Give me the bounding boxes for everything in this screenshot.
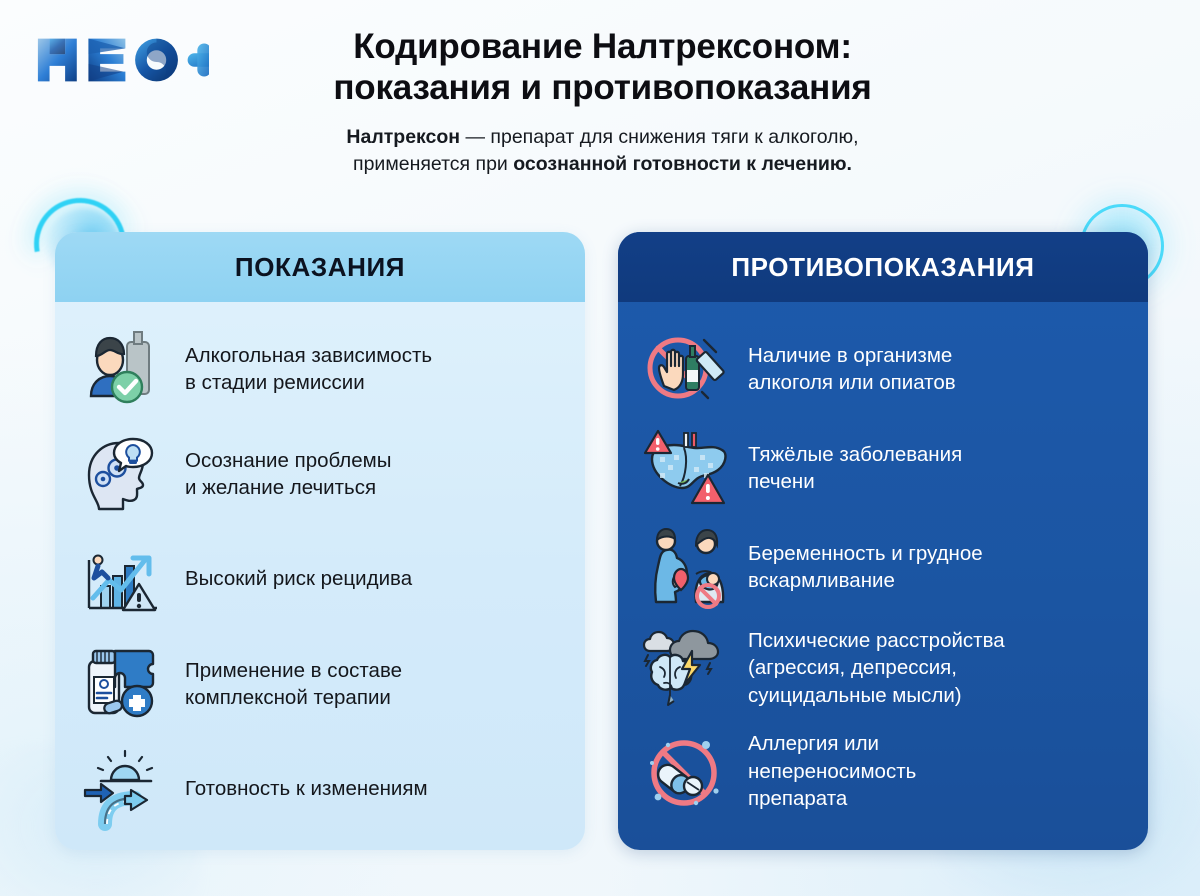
list-item-label: Психические расстройства (агрессия, депр… [748, 627, 1005, 709]
list-item: Психические расстройства (агрессия, депр… [644, 621, 1122, 715]
list-item-label: Наличие в организме алкоголя или опиатов [748, 342, 956, 397]
pregnancy-breastfeeding-ban-icon [644, 528, 730, 606]
header-text-block: Кодирование Налтрексоном: показания и пр… [230, 26, 975, 177]
list-item-label: Тяжёлые заболевания печени [748, 441, 962, 496]
contraindications-card-body: Наличие в организме алкоголя или опиатов [618, 302, 1148, 819]
pills-ban-allergy-icon [644, 733, 730, 811]
list-item: Алкогольная зависимость в стадии ремисси… [81, 324, 559, 414]
list-item-label: Беременность и грудное вскармливание [748, 540, 983, 595]
indications-card-title: ПОКАЗАНИЯ [55, 232, 585, 302]
contraindications-card-title: ПРОТИВОПОКАЗАНИЯ [618, 232, 1148, 302]
page-header: Кодирование Налтрексоном: показания и пр… [0, 0, 1200, 216]
list-item: Наличие в организме алкоголя или опиатов [644, 324, 1122, 414]
liver-warning-icon [644, 429, 730, 507]
list-item-label: Применение в составе комплексной терапии [185, 657, 402, 712]
list-item-label: Аллергия или непереносимость препарата [748, 730, 916, 812]
list-item: Применение в составе комплексной терапии [81, 639, 559, 729]
infographic-page: Кодирование Налтрексоном: показания и пр… [0, 0, 1200, 896]
stop-hand-bottle-syringe-icon [644, 330, 730, 408]
indications-card: ПОКАЗАНИЯ Алкогольная зависимость в стад… [55, 232, 585, 850]
sunrise-road-arrow-icon [81, 750, 167, 828]
page-title-line-2: показания и противопоказания [230, 67, 975, 108]
list-item: Беременность и грудное вскармливание [644, 522, 1122, 612]
neo-plus-logo [34, 30, 214, 90]
person-bottle-check-icon [81, 330, 167, 408]
indications-card-body: Алкогольная зависимость в стадии ремисси… [55, 302, 585, 834]
page-subtitle: Налтрексон — препарат для снижения тяги … [230, 124, 975, 178]
list-item: Высокий риск рецидива [81, 534, 559, 624]
subtitle-text-1: — препарат для снижения тяги к алкоголю, [460, 126, 858, 148]
list-item: Аллергия или непереносимость препарата [644, 724, 1122, 818]
list-item-label: Осознание проблемы и желание лечиться [185, 447, 392, 502]
subtitle-emphasis: осознанной готовности к лечению. [513, 153, 852, 175]
risk-chart-warning-icon [81, 540, 167, 618]
subtitle-text-2: применяется при [353, 153, 513, 175]
subtitle-drug-name: Налтрексон [346, 126, 460, 148]
page-title-line-1: Кодирование Налтрексоном: [230, 26, 975, 67]
brain-storm-cloud-icon [644, 629, 730, 707]
list-item: Тяжёлые заболевания печени [644, 423, 1122, 513]
list-item-label: Высокий риск рецидива [185, 565, 412, 592]
list-item-label: Готовность к изменениям [185, 775, 428, 802]
head-gears-idea-icon [81, 435, 167, 513]
list-item: Осознание проблемы и желание лечиться [81, 429, 559, 519]
list-item: Готовность к изменениям [81, 744, 559, 834]
list-item-label: Алкогольная зависимость в стадии ремисси… [185, 342, 432, 397]
pill-bottle-puzzle-cross-icon [81, 645, 167, 723]
page-title: Кодирование Налтрексоном: показания и пр… [230, 26, 975, 109]
contraindications-card: ПРОТИВОПОКАЗАНИЯ Налич [618, 232, 1148, 850]
